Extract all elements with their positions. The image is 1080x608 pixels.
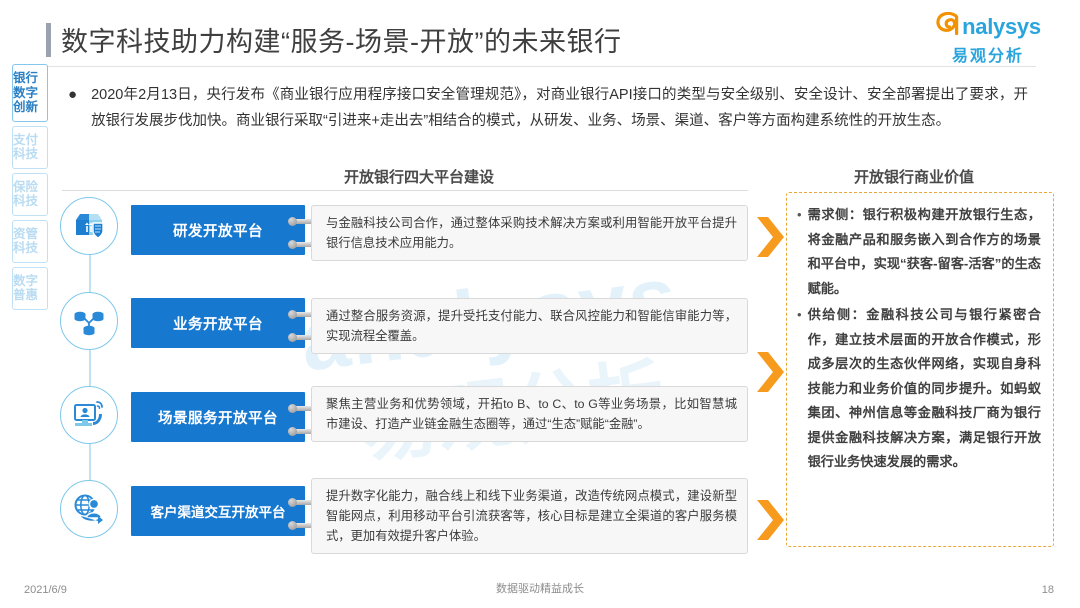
platform-chip-label: 场景服务开放平台 [158,407,278,428]
lead-paragraph: ● 2020年2月13日，央行发布《商业银行应用程序接口安全管理规范》，对商业银… [68,82,1028,134]
chevron-right-icon-1 [755,215,785,259]
value-item-text: 需求侧：银行积极构建开放银行生态，将金融产品和服务嵌入到合作方的场景和平台中，实… [808,203,1041,301]
platform-chip-label: 客户渠道交互开放平台 [151,501,286,521]
platform-chip-label: 研发开放平台 [173,220,263,241]
globe-user-icon [60,480,118,538]
lead-text: 2020年2月13日，央行发布《商业银行应用程序接口安全管理规范》，对商业银行A… [91,82,1028,134]
chevron-right-icon-2 [755,350,785,394]
sidebar-item-insurance-tech[interactable]: 保险科技 [12,173,48,216]
platform-desc-3: 聚焦主营业务和优势领域，开拓to B、to C、to G等业务场景，比如智慧城市… [311,386,748,442]
value-item-supply-side: • 供给侧：金融科技公司与银行紧密合作，建立技术层面的开放合作模式，形成多层次的… [797,303,1041,475]
sidebar-item-label: 资管科技 [13,227,47,256]
logo-chinese-name: 易观分析 [924,42,1052,66]
bullet-icon: • [797,303,802,475]
platform-chip-1[interactable]: 研发开放平台 [131,205,305,255]
business-value-panel: • 需求侧：银行积极构建开放银行生态，将金融产品和服务嵌入到合作方的场景和平台中… [786,192,1054,547]
monitor-user-wifi-icon [60,386,118,444]
value-item-demand-side: • 需求侧：银行积极构建开放银行生态，将金融产品和服务嵌入到合作方的场景和平台中… [797,203,1041,301]
brand-logo: nalysys 易观分析 [924,12,1052,66]
platform-desc-4: 提升数字化能力，融合线上和线下业务渠道，改造传统网点模式，建设新型智能网点，利用… [311,478,748,554]
page-title: 数字科技助力构建“服务-场景-开放”的未来银行 [46,20,621,59]
logo-wordmark: nalysys [962,16,1041,38]
right-column-heading: 开放银行商业价值 [854,166,974,187]
platform-chip-4[interactable]: 客户渠道交互开放平台 [131,486,305,536]
lead-bullet-icon: ● [68,82,77,134]
sidebar-item-label: 银行数字创新 [13,71,47,115]
title-accent-bar [46,23,51,57]
sidebar-item-banking-digital-innovation[interactable]: 银行数字创新 [12,64,48,122]
database-network-icon [60,292,118,350]
sidebar-item-label: 数字普惠 [13,274,47,303]
platform-chip-label: 业务开放平台 [173,313,263,334]
sidebar-item-asset-management-tech[interactable]: 资管科技 [12,220,48,263]
sidebar-item-label: 支付科技 [13,133,47,162]
left-column-divider [62,190,748,191]
platform-desc-1: 与金融科技公司合作，通过整体采购技术解决方案或利用智能开放平台提升银行信息技术应… [311,205,748,261]
sidebar-item-label: 保险科技 [13,180,47,209]
sidebar-item-digital-inclusive-finance[interactable]: 数字普惠 [12,267,48,310]
sidebar-tabs: 银行数字创新 支付科技 保险科技 资管科技 数字普惠 [12,64,48,314]
analysys-swoosh-icon [935,12,961,41]
chevron-right-icon-3 [755,498,785,542]
package-shield-icon [60,197,118,255]
platform-chip-2[interactable]: 业务开放平台 [131,298,305,348]
value-item-text: 供给侧：金融科技公司与银行紧密合作，建立技术层面的开放合作模式，形成多层次的生态… [808,303,1041,475]
slide-canvas: analysys 易观分析 数字科技助力构建“服务-场景-开放”的未来银行 na… [0,0,1080,608]
title-text: 数字科技助力构建“服务-场景-开放”的未来银行 [61,20,621,59]
footer-page-number: 18 [1042,584,1054,596]
header-divider [46,66,1036,67]
platform-chip-3[interactable]: 场景服务开放平台 [131,392,305,442]
bullet-icon: • [797,203,802,301]
footer-slogan: 数据驱动精益成长 [0,580,1080,596]
sidebar-item-payment-tech[interactable]: 支付科技 [12,126,48,169]
platform-desc-2: 通过整合服务资源，提升受托支付能力、联合风控能力和智能信审能力等，实现流程全覆盖… [311,298,748,354]
left-column-heading: 开放银行四大平台建设 [344,166,494,187]
